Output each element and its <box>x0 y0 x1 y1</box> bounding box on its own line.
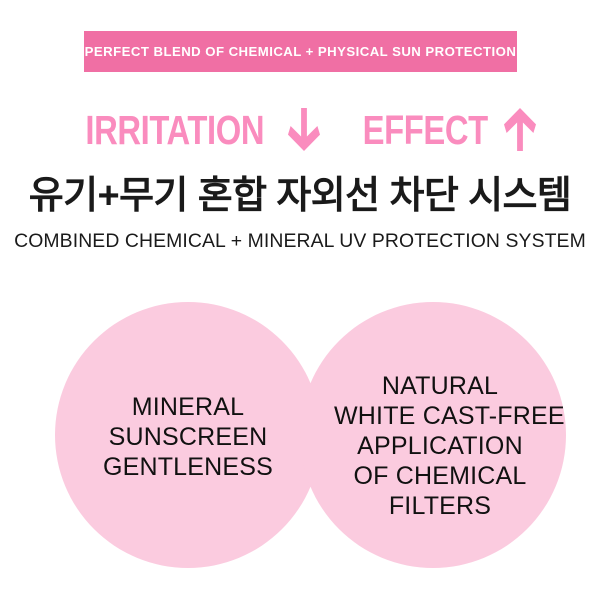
venn-left-label: MINERAL SUNSCREEN GENTLENESS <box>83 392 293 482</box>
effect-label: EFFECT <box>362 110 487 151</box>
venn-right-line-2: WHITE CAST-FREE <box>334 401 546 431</box>
claim-effect: EFFECT <box>347 106 537 154</box>
venn-right-line-5: FILTERS <box>334 491 546 521</box>
banner-text: PERFECT BLEND OF CHEMICAL + PHYSICAL SUN… <box>85 44 517 59</box>
arrow-down-icon <box>287 106 321 154</box>
venn-right-line-3: APPLICATION <box>334 431 546 461</box>
claim-irritation: IRRITATION <box>63 106 321 154</box>
venn-left-line-1: MINERAL <box>83 392 293 422</box>
claims-row: IRRITATION EFFECT <box>0 100 600 160</box>
claims-spacer <box>321 130 347 131</box>
venn-left-line-2: SUNSCREEN <box>83 422 293 452</box>
irritation-label: IRRITATION <box>85 110 264 151</box>
venn-diagram: MINERAL SUNSCREEN GENTLENESS NATURAL WHI… <box>0 288 600 588</box>
infographic-canvas: PERFECT BLEND OF CHEMICAL + PHYSICAL SUN… <box>0 0 600 600</box>
arrow-up-icon <box>503 106 537 154</box>
venn-left-line-3: GENTLENESS <box>83 452 293 482</box>
venn-right-line-4: OF CHEMICAL <box>334 461 546 491</box>
headline-korean: 유기+무기 혼합 자외선 차단 시스템 <box>0 172 600 220</box>
venn-right-line-1: NATURAL <box>334 371 546 401</box>
top-banner: PERFECT BLEND OF CHEMICAL + PHYSICAL SUN… <box>84 31 517 72</box>
venn-right-label: NATURAL WHITE CAST-FREE APPLICATION OF C… <box>334 371 546 521</box>
headline-english: COMBINED CHEMICAL + MINERAL UV PROTECTIO… <box>0 229 600 253</box>
